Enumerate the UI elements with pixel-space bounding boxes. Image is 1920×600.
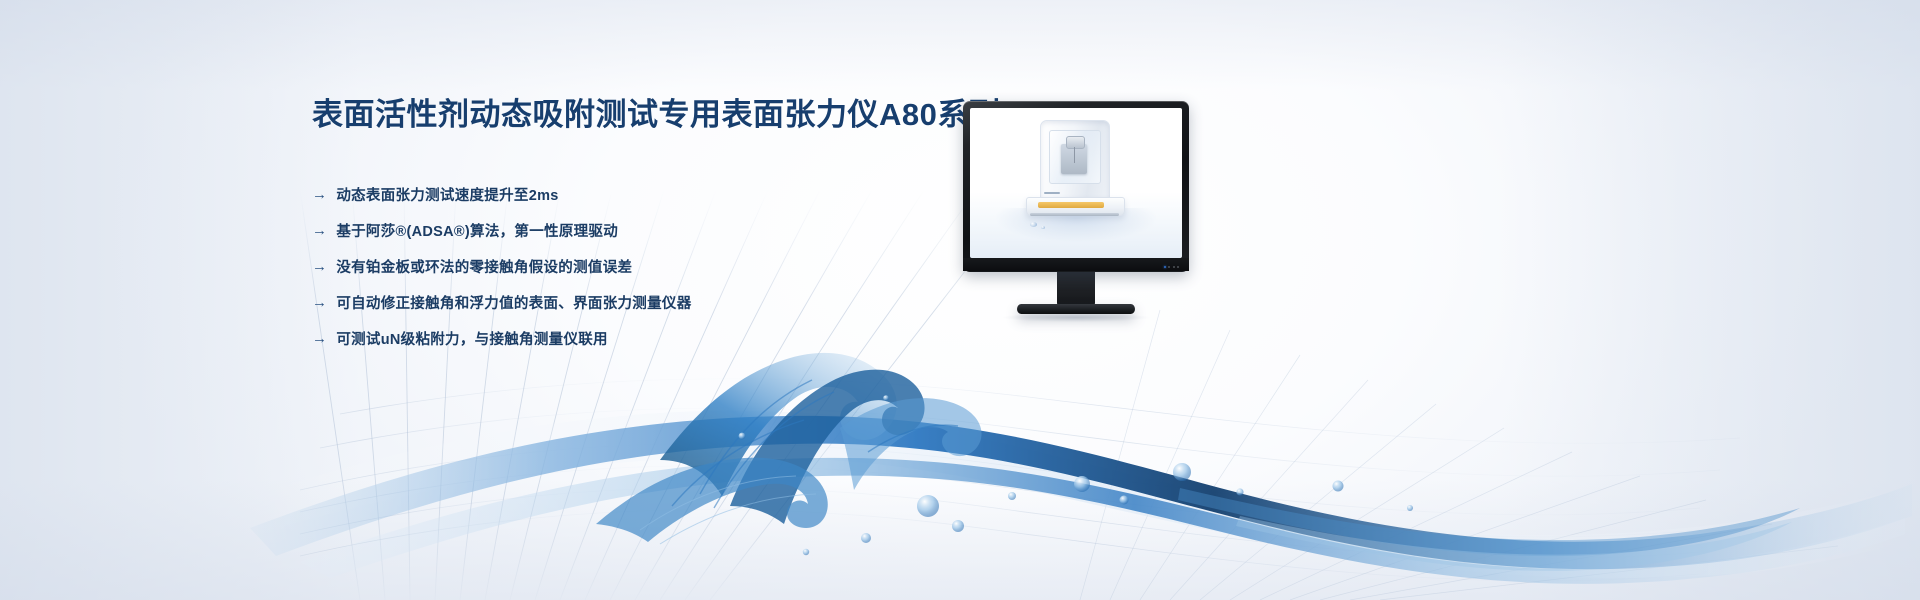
wireframe-fan-decoration [0, 190, 1920, 600]
water-wave-secondary [300, 458, 1905, 584]
surface-tension-analyzer-image [1016, 114, 1136, 238]
water-wave-main [250, 416, 1912, 569]
list-item: → 基于阿莎®(ADSA®)算法，第一性原理驱动 [312, 213, 952, 247]
arrow-right-icon: → [312, 259, 327, 274]
product-monitor [963, 101, 1189, 272]
instrument-control-panel [1038, 202, 1104, 208]
monitor-neck [1057, 269, 1095, 307]
feature-list: → 动态表面张力测试速度提升至2ms → 基于阿莎®(ADSA®)算法，第一性原… [312, 177, 952, 355]
status-led [1173, 266, 1175, 268]
list-item: → 可自动修正接触角和浮力值的表面、界面张力测量仪器 [312, 285, 952, 319]
arrow-right-icon: → [312, 331, 327, 346]
status-led [1168, 266, 1170, 268]
arrow-right-icon: → [312, 187, 327, 202]
top-vignette [0, 0, 1920, 90]
monitor-stand [1017, 304, 1135, 314]
water-spray-trail [1178, 488, 1800, 571]
list-item: → 可测试uN级粘附力，与接触角测量仪联用 [312, 321, 952, 355]
water-splash-crest [596, 353, 982, 544]
water-droplet-icon [1030, 222, 1037, 227]
feature-text: 没有铂金板或环法的零接触角假设的测值误差 [336, 256, 632, 277]
status-led [1177, 266, 1179, 268]
list-item: → 没有铂金板或环法的零接触角假设的测值误差 [312, 249, 952, 283]
banner-text-column: 表面活性剂动态吸附测试专用表面张力仪A80系列 → 动态表面张力测试速度提升至2… [312, 96, 952, 357]
promo-banner: 表面活性剂动态吸附测试专用表面张力仪A80系列 → 动态表面张力测试速度提升至2… [0, 0, 1920, 600]
water-mist-ribbon [240, 411, 1910, 578]
water-splash-decoration [0, 310, 1920, 600]
instrument-feet [1030, 213, 1119, 216]
monitor-brand-bar [963, 258, 1189, 271]
power-led [1164, 266, 1166, 268]
feature-text: 可测试uN级粘附力，与接触角测量仪联用 [336, 328, 608, 349]
left-vignette [0, 0, 360, 600]
bottom-vignette [0, 480, 1920, 600]
feature-text: 可自动修正接触角和浮力值的表面、界面张力测量仪器 [336, 292, 691, 313]
monitor-bezel [963, 101, 1189, 272]
feature-text: 动态表面张力测试速度提升至2ms [336, 184, 558, 205]
stand-shadow [1001, 313, 1151, 322]
page-title: 表面活性剂动态吸附测试专用表面张力仪A80系列 [312, 96, 952, 133]
instrument-logo [1044, 192, 1060, 194]
monitor-indicator-leds [1164, 266, 1180, 268]
monitor-screen [970, 108, 1182, 258]
arrow-right-icon: → [312, 223, 327, 238]
water-droplet-icon [1041, 226, 1045, 229]
feature-text: 基于阿莎®(ADSA®)算法，第一性原理驱动 [336, 220, 618, 241]
probe-rod [1074, 147, 1076, 163]
arrow-right-icon: → [312, 295, 327, 310]
right-vignette [1500, 0, 1920, 600]
water-bubbles [739, 395, 1413, 555]
sample-holder [1066, 136, 1085, 149]
list-item: → 动态表面张力测试速度提升至2ms [312, 177, 952, 211]
